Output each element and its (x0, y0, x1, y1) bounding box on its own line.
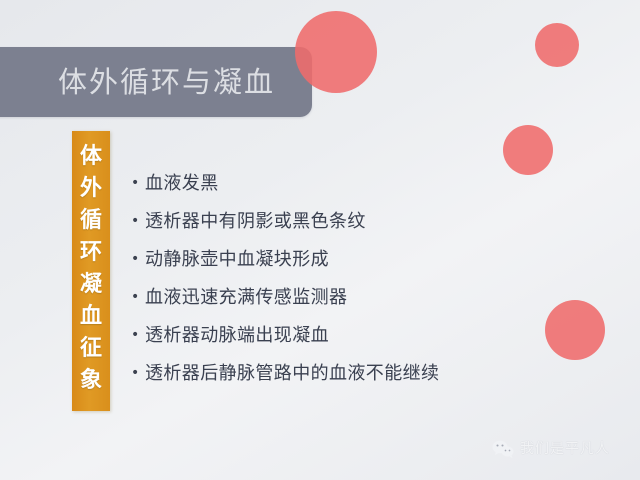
side-label-char: 凝 (80, 269, 102, 301)
list-item: • 血液迅速充满传感监测器 (131, 282, 601, 320)
side-label-char: 循 (80, 205, 102, 237)
bullet-list: • 血液发黑 • 透析器中有阴影或黑色条纹 • 动静脉壶中血凝块形成 • 血液迅… (131, 168, 601, 396)
bullet-dot-icon: • (131, 168, 145, 199)
bullet-dot-icon: • (131, 244, 145, 275)
side-label-char: 环 (80, 237, 102, 269)
list-item-label: 血液迅速充满传感监测器 (145, 282, 347, 313)
slide-canvas: 体外循环与凝血 体 外 循 环 凝 血 征 象 • 血液发黑 • 透析器中有阴影… (0, 0, 640, 480)
side-label-bar: 体 外 循 环 凝 血 征 象 (72, 131, 110, 411)
list-item-label: 透析器中有阴影或黑色条纹 (145, 206, 366, 237)
bullet-dot-icon: • (131, 282, 145, 313)
watermark-label: 我们是平凡人 (520, 440, 610, 458)
list-item: • 血液发黑 (131, 168, 601, 206)
side-label-char: 体 (80, 141, 102, 173)
list-item-label: 透析器动脉端出现凝血 (145, 320, 329, 351)
wechat-icon (492, 440, 514, 458)
list-item-label: 透析器后静脉管路中的血液不能继续 (145, 358, 439, 389)
list-item: • 透析器后静脉管路中的血液不能继续 (131, 358, 601, 396)
bullet-dot-icon: • (131, 206, 145, 237)
list-item: • 动静脉壶中血凝块形成 (131, 244, 601, 282)
list-item-label: 动静脉壶中血凝块形成 (145, 244, 329, 275)
watermark: 我们是平凡人 (492, 440, 610, 458)
bullet-dot-icon: • (131, 320, 145, 351)
list-item: • 透析器动脉端出现凝血 (131, 320, 601, 358)
side-label-char: 外 (80, 173, 102, 205)
list-item: • 透析器中有阴影或黑色条纹 (131, 206, 601, 244)
decorative-circle-large (295, 11, 377, 93)
bullet-dot-icon: • (131, 358, 145, 389)
side-label-char: 征 (80, 333, 102, 365)
list-item-label: 血液发黑 (145, 168, 219, 199)
side-label-char: 血 (80, 301, 102, 333)
side-label-char: 象 (80, 365, 102, 397)
page-title: 体外循环与凝血 (58, 58, 275, 106)
decorative-circle-top-right (535, 23, 579, 67)
